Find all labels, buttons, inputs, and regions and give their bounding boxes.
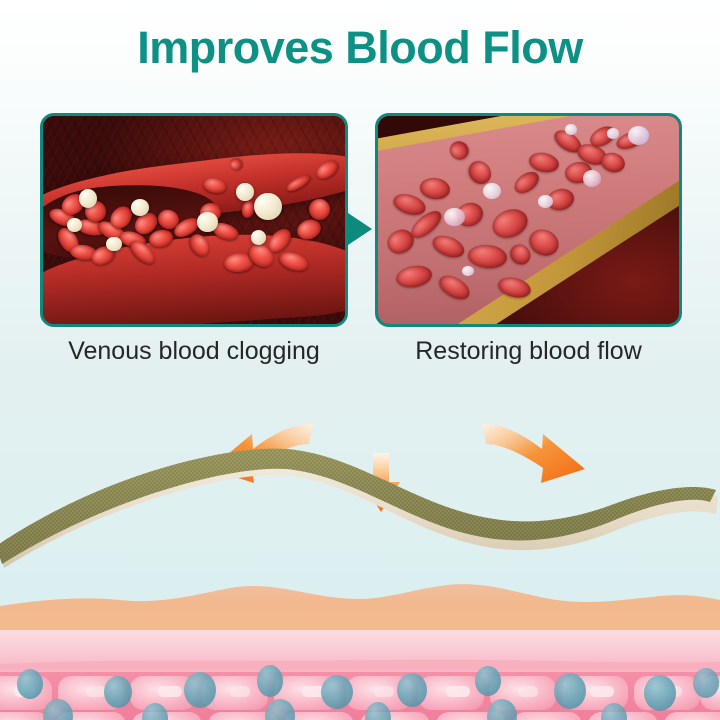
- right-triangle-arrow-icon: [348, 213, 372, 245]
- clogged-blood-illustration: [43, 116, 345, 324]
- patch-weave-texture: [0, 449, 716, 564]
- product-infographic: Improves Blood Flow: [0, 0, 720, 720]
- caption-clogged: Venous blood clogging: [40, 337, 348, 366]
- page-title: Improves Blood Flow: [0, 22, 720, 74]
- healthy-blood-illustration: [378, 116, 679, 324]
- caption-restored: Restoring blood flow: [375, 337, 682, 366]
- comparison-panel-restored: [375, 113, 682, 327]
- skin-epidermis: [0, 584, 720, 632]
- herbal-patch: [0, 440, 720, 585]
- comparison-panel-clogged: [40, 113, 348, 327]
- skin-cross-section: [0, 580, 720, 720]
